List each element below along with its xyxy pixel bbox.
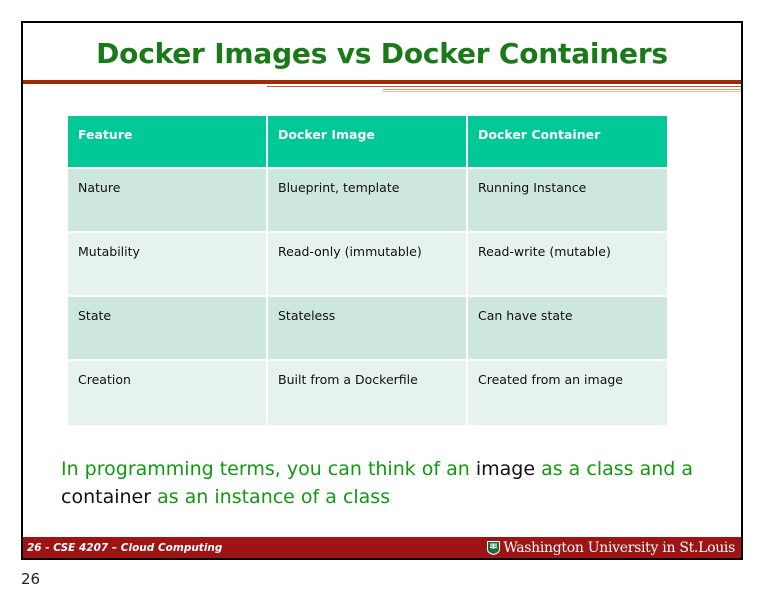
table-row: Nature Blueprint, template Running Insta… [68,169,667,233]
summary-part-2: as a class and a [535,458,693,480]
footer-bar: 26 - CSE 4207 – Cloud Computing Washingt… [23,537,741,558]
cell-docker-image: Blueprint, template [268,169,468,233]
summary-term-container: container [61,486,151,508]
cell-feature: State [68,297,268,361]
cell-docker-container: Created from an image [468,361,667,425]
cell-docker-image: Stateless [268,297,468,361]
summary-part-3: as an instance of a class [151,486,390,508]
column-header-feature: Feature [68,116,268,169]
table-row: State Stateless Can have state [68,297,667,361]
title-divider-thick [23,80,741,84]
university-name: Washington University in St.Louis [503,540,735,556]
summary-term-image: image [476,458,535,480]
comparison-table: Feature Docker Image Docker Container Na… [68,116,667,425]
title-divider-thin-3 [383,91,741,92]
cell-docker-container: Read-write (mutable) [468,233,667,297]
shield-icon [487,541,500,555]
column-header-docker-image: Docker Image [268,116,468,169]
table-header-row: Feature Docker Image Docker Container [68,116,667,169]
summary-part-1: In programming terms, you can think of a… [61,458,476,480]
cell-feature: Mutability [68,233,268,297]
cell-feature: Creation [68,361,268,425]
university-logo: Washington University in St.Louis [487,540,741,556]
page-title: Docker Images vs Docker Containers [96,37,668,70]
column-header-docker-container: Docker Container [468,116,667,169]
cell-docker-image: Read-only (immutable) [268,233,468,297]
slide-canvas: Docker Images vs Docker Containers Featu… [21,21,743,560]
slide-title-area: Docker Images vs Docker Containers [23,23,741,83]
table-row: Creation Built from a Dockerfile Created… [68,361,667,425]
cell-feature: Nature [68,169,268,233]
title-divider-thin-1 [267,86,741,87]
table-row: Mutability Read-only (immutable) Read-wr… [68,233,667,297]
summary-text: In programming terms, you can think of a… [61,455,721,511]
footer-course-label: 26 - CSE 4207 – Cloud Computing [23,542,222,554]
cell-docker-image: Built from a Dockerfile [268,361,468,425]
page-number: 26 [21,570,40,588]
cell-docker-container: Running Instance [468,169,667,233]
title-divider-thin-2 [383,89,741,90]
cell-docker-container: Can have state [468,297,667,361]
